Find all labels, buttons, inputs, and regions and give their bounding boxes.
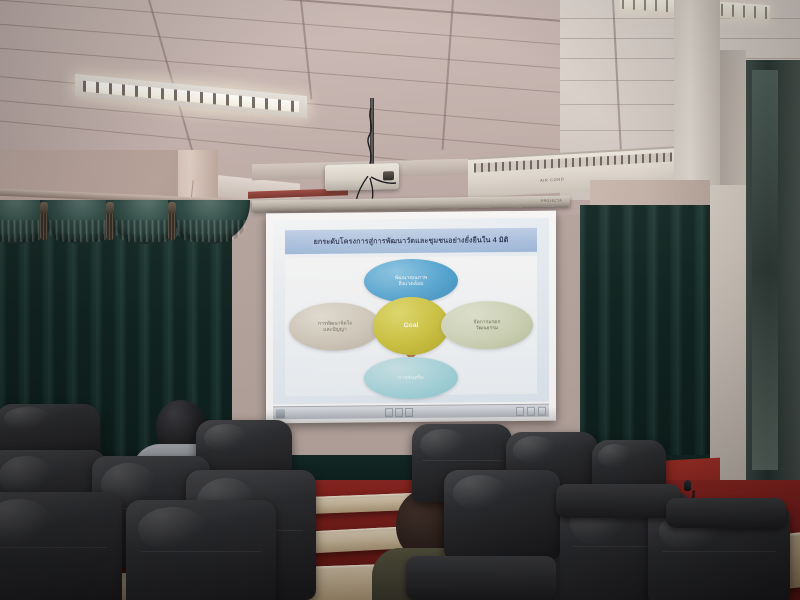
diagram-node-right[interactable]: จัดการมรดก วัฒนธรรม — [441, 301, 533, 350]
curtain-valance — [0, 200, 232, 250]
conference-room-scene: AIR COND — [0, 0, 800, 600]
ac-label: AIR COND — [540, 176, 564, 182]
diagram-node-left[interactable]: การพัฒนาจิตใจ และปัญญา — [289, 302, 381, 351]
ac-grille — [474, 152, 672, 172]
right-doorway-glass — [746, 60, 800, 480]
node-right-line2: วัฒนธรรม — [476, 325, 498, 331]
chair-armrest-1 — [556, 484, 680, 518]
chair-armrest-3 — [666, 498, 786, 528]
chair-foreground-3[interactable] — [444, 470, 560, 560]
slide-diagram: พัฒนาคุณภาพ สิ่งแวดล้อม การพัฒนาจิตใจ แล… — [285, 256, 537, 396]
slide-title-band: ยกระดับโครงการสู่การพัฒนาวัดและชุมชนอย่า… — [285, 228, 537, 254]
chair-armrest-2 — [406, 556, 556, 600]
projection-screen: ยกระดับโครงการสู่การพัฒนาวัดและชุมชนอย่า… — [266, 211, 556, 424]
node-left-line2: และปัญญา — [323, 327, 346, 333]
node-top-line2: สิ่งแวดล้อม — [398, 281, 423, 288]
node-center-label: Goal — [404, 322, 419, 330]
diagram-node-bottom[interactable]: การส่งเสริม — [364, 357, 458, 400]
presentation-slide: ยกระดับโครงการสู่การพัฒนาวัดและชุมชนอย่า… — [273, 218, 549, 405]
screen-brand-label: PROJECTA — [541, 199, 562, 203]
diagram-node-center-goal[interactable]: Goal — [373, 297, 449, 356]
chair-foreground-2[interactable] — [126, 500, 276, 600]
projector-cable — [364, 108, 378, 166]
slide-title: ยกระดับโครงการสู่การพัฒนาวัดและชุมชนอย่า… — [314, 235, 509, 248]
chair-foreground-1[interactable] — [0, 492, 122, 600]
node-bottom-line1: การส่งเสริม — [398, 375, 424, 382]
